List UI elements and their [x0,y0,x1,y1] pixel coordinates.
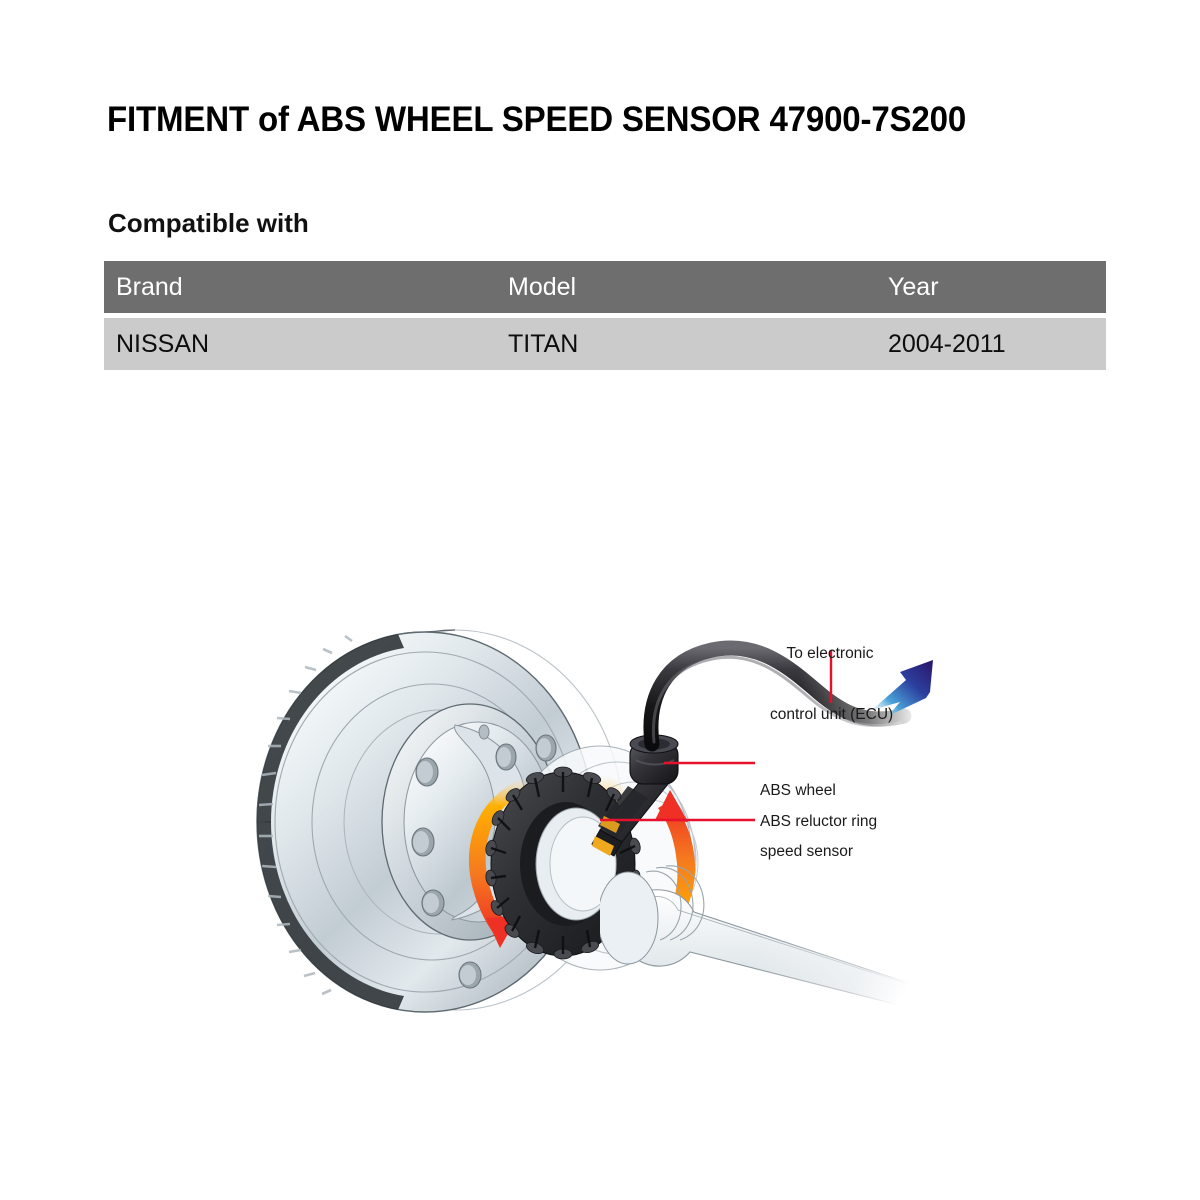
column-header-brand: Brand [104,273,508,302]
callout-abs-reluctor-ring: ABS reluctor ring [760,812,877,832]
page-title: FITMENT of ABS WHEEL SPEED SENSOR 47900-… [107,100,966,140]
page-root: FITMENT of ABS WHEEL SPEED SENSOR 47900-… [0,0,1200,1200]
compatible-with-heading: Compatible with [108,208,309,239]
cell-model: TITAN [508,330,888,359]
callout-ecu-line1: To electronic [770,644,890,664]
callout-sensor-line1: ABS wheel [760,781,853,801]
callout-ecu-line2: control unit (ECU) [770,705,890,725]
abs-sensor-diagram [0,520,1200,1080]
cell-brand: NISSAN [104,330,508,359]
table-row: NISSAN TITAN 2004-2011 [104,318,1106,370]
column-header-year: Year [888,273,1106,302]
column-header-model: Model [508,273,888,302]
table-header-row: Brand Model Year [104,261,1106,313]
fitment-table: Brand Model Year NISSAN TITAN 2004-2011 [104,261,1106,370]
callout-sensor-line2: speed sensor [760,842,853,862]
cell-year: 2004-2011 [888,330,1106,359]
